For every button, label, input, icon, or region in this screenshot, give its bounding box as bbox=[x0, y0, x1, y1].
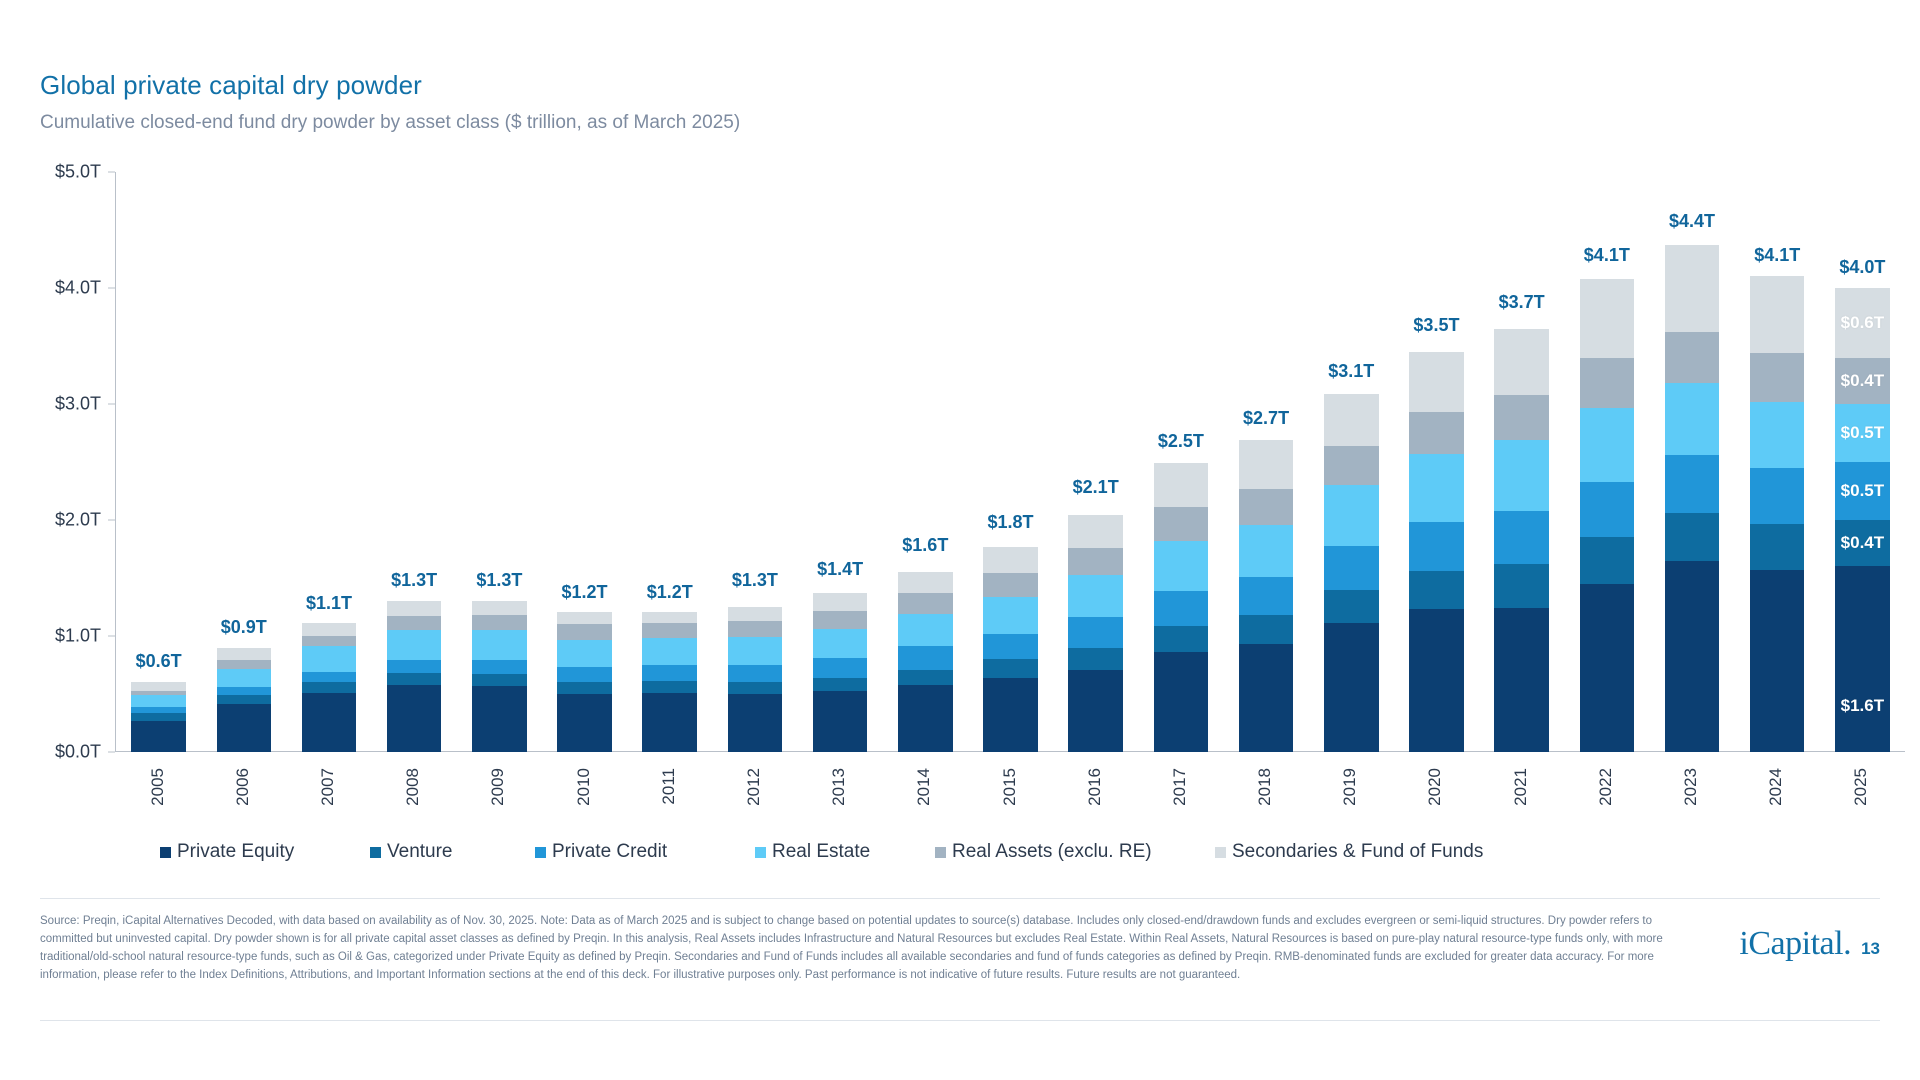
bar-stack bbox=[1068, 515, 1123, 752]
bar-stack bbox=[217, 648, 272, 752]
bar-total-label: $1.8T bbox=[987, 512, 1033, 533]
bar-segment[interactable] bbox=[1324, 623, 1379, 752]
bar-segment[interactable] bbox=[983, 659, 1038, 678]
bar-group[interactable]: $2.7T bbox=[1239, 172, 1294, 752]
bar-total-label: $0.9T bbox=[221, 617, 267, 638]
bar-stack bbox=[302, 623, 357, 752]
bar-segment[interactable] bbox=[1665, 245, 1720, 332]
x-axis-tick-label: 2023 bbox=[1681, 768, 1701, 806]
bar-segment[interactable] bbox=[472, 615, 527, 630]
bar-segment-label: $0.4T bbox=[1841, 371, 1884, 391]
bar-group[interactable]: $1.3T bbox=[387, 172, 442, 752]
bar-segment[interactable] bbox=[1154, 463, 1209, 507]
bar-segment[interactable] bbox=[1409, 352, 1464, 412]
bar-segment[interactable] bbox=[1324, 546, 1379, 590]
bar-stack bbox=[1665, 245, 1720, 752]
bar-segment-label: $0.5T bbox=[1841, 481, 1884, 501]
bar-group[interactable]: $0.6T$0.4T$0.5T$0.5T$0.4T$1.6T$4.0T bbox=[1835, 172, 1890, 752]
x-axis-tick-label: 2005 bbox=[148, 768, 168, 806]
bar-stack bbox=[1239, 440, 1294, 752]
bar-total-label: $2.1T bbox=[1073, 477, 1119, 498]
icapital-logo: iCapital. bbox=[1739, 925, 1851, 963]
bar-segment[interactable] bbox=[813, 658, 868, 678]
bar-segment[interactable] bbox=[1665, 455, 1720, 513]
y-axis-tick-mark bbox=[108, 172, 115, 173]
bar-segment[interactable]: $1.6T bbox=[1835, 566, 1890, 752]
x-axis-tick-label: 2015 bbox=[1000, 768, 1020, 806]
bar-segment[interactable] bbox=[1068, 648, 1123, 670]
y-axis-tick-mark bbox=[108, 520, 115, 521]
bar-stack bbox=[898, 572, 953, 752]
bar-segment[interactable] bbox=[1239, 525, 1294, 577]
bar-segment[interactable] bbox=[217, 669, 272, 688]
y-axis-tick-mark bbox=[108, 404, 115, 405]
bar-segment[interactable] bbox=[898, 670, 953, 685]
bar-segment[interactable] bbox=[1665, 513, 1720, 561]
bar-segment[interactable] bbox=[1494, 329, 1549, 395]
bar-total-label: $1.3T bbox=[476, 570, 522, 591]
legend-label: Real Estate bbox=[772, 841, 870, 863]
bar-segment[interactable] bbox=[728, 682, 783, 694]
bar-stack bbox=[642, 612, 697, 752]
bar-total-label: $1.1T bbox=[306, 593, 352, 614]
bar-segment[interactable] bbox=[898, 572, 953, 593]
bar-segment[interactable] bbox=[642, 693, 697, 752]
slide: Global private capital dry powder Cumula… bbox=[0, 0, 1920, 1080]
bar-segment[interactable] bbox=[1409, 412, 1464, 454]
bar-total-label: $1.3T bbox=[391, 570, 437, 591]
bar-segment[interactable] bbox=[1068, 617, 1123, 647]
bar-segment[interactable] bbox=[1750, 570, 1805, 752]
legend-label: Real Assets (exclu. RE) bbox=[952, 841, 1152, 863]
bar-group[interactable]: $2.1T bbox=[1068, 172, 1123, 752]
bar-total-label: $1.4T bbox=[817, 559, 863, 580]
bar-segment[interactable] bbox=[557, 682, 612, 694]
bar-group[interactable]: $1.3T bbox=[728, 172, 783, 752]
bar-segment[interactable] bbox=[472, 660, 527, 674]
bar-total-label: $3.1T bbox=[1328, 361, 1374, 382]
bar-stack bbox=[728, 607, 783, 752]
bar-segment[interactable] bbox=[472, 674, 527, 686]
bar-segment[interactable] bbox=[813, 611, 868, 630]
bar-group[interactable]: $1.6T bbox=[898, 172, 953, 752]
legend-item-private-equity[interactable]: Private Equity bbox=[160, 841, 294, 863]
bar-segment-label: $0.6T bbox=[1841, 313, 1884, 333]
bar-segment[interactable] bbox=[898, 685, 953, 752]
bar-segment[interactable] bbox=[1409, 454, 1464, 522]
bar-segment[interactable] bbox=[642, 638, 697, 665]
bar-stack bbox=[472, 601, 527, 752]
bar-segment[interactable] bbox=[898, 646, 953, 669]
x-axis-tick-label: 2010 bbox=[574, 768, 594, 806]
bar-segment[interactable] bbox=[131, 682, 186, 690]
bar-total-label: $1.2T bbox=[562, 582, 608, 603]
legend-swatch-icon bbox=[755, 847, 766, 858]
legend-label: Venture bbox=[387, 841, 453, 863]
bar-stack bbox=[1750, 276, 1805, 752]
bar-segment[interactable] bbox=[131, 695, 186, 707]
bar-segment[interactable] bbox=[728, 694, 783, 752]
bar-segment[interactable] bbox=[217, 687, 272, 695]
footer-divider bbox=[40, 898, 1880, 899]
bar-total-label: $4.1T bbox=[1584, 245, 1630, 266]
bar-group[interactable]: $2.5T bbox=[1154, 172, 1209, 752]
bar-group[interactable]: $0.6T bbox=[131, 172, 186, 752]
bar-stack bbox=[813, 593, 868, 752]
bar-segment[interactable] bbox=[983, 597, 1038, 634]
bar-stack bbox=[1154, 463, 1209, 752]
legend-item-real-estate[interactable]: Real Estate bbox=[755, 841, 870, 863]
bar-segment[interactable] bbox=[302, 682, 357, 692]
bar-segment[interactable] bbox=[642, 612, 697, 624]
bar-segment[interactable] bbox=[728, 665, 783, 682]
bar-segment[interactable] bbox=[642, 623, 697, 638]
legend-swatch-icon bbox=[160, 847, 171, 858]
x-axis-tick-label: 2022 bbox=[1596, 768, 1616, 806]
y-axis-tick-label: $0.0T bbox=[55, 742, 115, 763]
bar-segment[interactable] bbox=[813, 593, 868, 610]
bar-segment[interactable] bbox=[472, 601, 527, 615]
bar-segment[interactable] bbox=[1580, 482, 1635, 538]
bar-segment[interactable] bbox=[642, 665, 697, 681]
x-axis-tick-label: 2013 bbox=[829, 768, 849, 806]
bar-segment[interactable] bbox=[1239, 489, 1294, 525]
bar-segment[interactable] bbox=[813, 629, 868, 658]
bar-segment[interactable] bbox=[387, 660, 442, 673]
bar-group[interactable]: $4.4T bbox=[1665, 172, 1720, 752]
bar-segment[interactable] bbox=[898, 614, 953, 646]
bar-segment[interactable] bbox=[1239, 440, 1294, 489]
bar-segment[interactable] bbox=[898, 593, 953, 614]
bottom-divider bbox=[40, 1020, 1880, 1021]
bar-segment[interactable] bbox=[387, 685, 442, 752]
page-number: 13 bbox=[1861, 939, 1880, 959]
page-title: Global private capital dry powder bbox=[40, 70, 422, 101]
bar-stack bbox=[1324, 394, 1379, 752]
bar-segment[interactable] bbox=[983, 547, 1038, 574]
bar-segment[interactable] bbox=[813, 691, 868, 752]
bar-total-label: $1.3T bbox=[732, 570, 778, 591]
bar-segment[interactable] bbox=[217, 695, 272, 704]
x-axis-tick-label: 2016 bbox=[1085, 768, 1105, 806]
bar-segment[interactable] bbox=[131, 713, 186, 721]
bar-segment[interactable] bbox=[1324, 446, 1379, 485]
bar-stack: $0.6T$0.4T$0.5T$0.5T$0.4T$1.6T bbox=[1835, 288, 1890, 752]
bar-stack bbox=[983, 547, 1038, 752]
bar-segment[interactable] bbox=[1068, 575, 1123, 618]
bar-segment[interactable] bbox=[1324, 590, 1379, 624]
bar-stack bbox=[1580, 279, 1635, 752]
legend-item-private-credit[interactable]: Private Credit bbox=[535, 841, 667, 863]
bar-segment[interactable] bbox=[1750, 276, 1805, 353]
brand-block: iCapital. 13 bbox=[1739, 925, 1880, 963]
bar-segment[interactable] bbox=[1494, 395, 1549, 440]
bar-group[interactable]: $3.1T bbox=[1324, 172, 1379, 752]
x-axis-tick-label: 2019 bbox=[1340, 768, 1360, 806]
legend-item-secondaries-fund-of-funds[interactable]: Secondaries & Fund of Funds bbox=[1215, 841, 1483, 863]
bar-segment[interactable] bbox=[302, 623, 357, 636]
bar-segment[interactable] bbox=[1580, 584, 1635, 752]
bar-segment[interactable] bbox=[302, 672, 357, 682]
bar-total-label: $1.2T bbox=[647, 582, 693, 603]
bar-segment[interactable] bbox=[1580, 408, 1635, 482]
bar-group[interactable]: $3.7T bbox=[1494, 172, 1549, 752]
bar-segment[interactable] bbox=[217, 660, 272, 668]
bar-segment[interactable] bbox=[557, 624, 612, 639]
bar-total-label: $4.1T bbox=[1754, 245, 1800, 266]
bar-segment[interactable] bbox=[1494, 564, 1549, 608]
x-axis-tick-label: 2024 bbox=[1766, 768, 1786, 806]
bar-segment[interactable] bbox=[302, 636, 357, 646]
bar-total-label: $3.5T bbox=[1413, 315, 1459, 336]
bar-segment[interactable] bbox=[302, 646, 357, 672]
bar-segment[interactable] bbox=[217, 648, 272, 661]
bar-segment[interactable]: $0.5T bbox=[1835, 404, 1890, 462]
footnote-text: Source: Preqin, iCapital Alternatives De… bbox=[40, 912, 1670, 985]
bar-segment[interactable] bbox=[728, 637, 783, 665]
bar-segment[interactable] bbox=[983, 634, 1038, 660]
bar-segment[interactable] bbox=[1494, 608, 1549, 752]
bar-stack bbox=[557, 612, 612, 752]
bar-segment-label: $0.5T bbox=[1841, 423, 1884, 443]
bar-group[interactable]: $1.8T bbox=[983, 172, 1038, 752]
bar-segment[interactable] bbox=[387, 673, 442, 685]
x-axis-tick-label: 2011 bbox=[659, 768, 679, 805]
chart-plot-area: $5.0T$4.0T$3.0T$2.0T$1.0T$0.0T $0.6T$0.9… bbox=[115, 172, 1905, 752]
bar-segment[interactable] bbox=[557, 640, 612, 668]
chart-legend: Private EquityVenturePrivate CreditReal … bbox=[160, 838, 1860, 866]
bar-segment[interactable] bbox=[1665, 332, 1720, 383]
x-axis-tick-label: 2014 bbox=[914, 768, 934, 806]
bar-segment[interactable] bbox=[1494, 511, 1549, 564]
x-axis-tick-label: 2008 bbox=[403, 768, 423, 806]
bar-total-label: $0.6T bbox=[136, 651, 182, 672]
x-axis-tick-label: 2007 bbox=[318, 768, 338, 806]
bar-segment[interactable] bbox=[217, 704, 272, 752]
y-axis-tick-label: $4.0T bbox=[55, 278, 115, 299]
bar-segment[interactable] bbox=[1154, 507, 1209, 541]
bar-segment[interactable] bbox=[302, 693, 357, 752]
bar-segment[interactable] bbox=[472, 686, 527, 752]
bar-segment[interactable] bbox=[1239, 577, 1294, 615]
legend-swatch-icon bbox=[935, 847, 946, 858]
bar-group[interactable]: $1.4T bbox=[813, 172, 868, 752]
bar-segment[interactable]: $0.4T bbox=[1835, 520, 1890, 566]
bar-series-container: $0.6T$0.9T$1.1T$1.3T$1.3T$1.2T$1.2T$1.3T… bbox=[116, 172, 1905, 752]
x-axis-tick-label: 2017 bbox=[1170, 768, 1190, 806]
bar-segment[interactable] bbox=[983, 678, 1038, 752]
bar-segment[interactable] bbox=[1239, 644, 1294, 752]
y-axis-tick-label: $1.0T bbox=[55, 626, 115, 647]
legend-label: Private Equity bbox=[177, 841, 294, 863]
bar-segment[interactable]: $0.5T bbox=[1835, 462, 1890, 520]
bar-group[interactable]: $4.1T bbox=[1750, 172, 1805, 752]
bar-stack bbox=[387, 601, 442, 752]
bar-segment[interactable] bbox=[387, 630, 442, 660]
legend-swatch-icon bbox=[1215, 847, 1226, 858]
bar-segment[interactable] bbox=[1580, 279, 1635, 358]
bar-segment[interactable] bbox=[557, 612, 612, 625]
bar-segment[interactable] bbox=[1324, 394, 1379, 446]
bar-total-label: $2.7T bbox=[1243, 408, 1289, 429]
bar-group[interactable]: $1.2T bbox=[642, 172, 697, 752]
bar-segment[interactable] bbox=[1154, 626, 1209, 653]
bar-segment[interactable]: $0.4T bbox=[1835, 358, 1890, 404]
legend-label: Private Credit bbox=[552, 841, 667, 863]
legend-item-venture[interactable]: Venture bbox=[370, 841, 453, 863]
bar-segment[interactable]: $0.6T bbox=[1835, 288, 1890, 358]
bar-segment[interactable] bbox=[642, 681, 697, 693]
bar-segment[interactable] bbox=[1068, 670, 1123, 752]
bar-segment-label: $0.4T bbox=[1841, 533, 1884, 553]
bar-group[interactable]: $1.3T bbox=[472, 172, 527, 752]
y-axis-tick-label: $3.0T bbox=[55, 394, 115, 415]
bar-segment[interactable] bbox=[1154, 591, 1209, 626]
bar-segment[interactable] bbox=[1154, 541, 1209, 591]
y-axis-tick-label: $5.0T bbox=[55, 162, 115, 183]
bar-segment[interactable] bbox=[1409, 522, 1464, 571]
bar-segment[interactable] bbox=[1324, 485, 1379, 545]
bar-segment[interactable] bbox=[1750, 468, 1805, 524]
bar-segment[interactable] bbox=[1750, 353, 1805, 402]
x-axis-tick-label: 2020 bbox=[1425, 768, 1445, 806]
x-axis-tick-label: 2006 bbox=[233, 768, 253, 806]
bar-segment[interactable] bbox=[1580, 358, 1635, 408]
bar-segment[interactable] bbox=[472, 630, 527, 660]
legend-swatch-icon bbox=[535, 847, 546, 858]
x-axis-tick-label: 2025 bbox=[1851, 768, 1871, 806]
bar-group[interactable]: $1.1T bbox=[302, 172, 357, 752]
y-axis-tick-mark bbox=[108, 636, 115, 637]
bar-segment[interactable] bbox=[557, 667, 612, 682]
bar-stack bbox=[131, 682, 186, 752]
bar-stack bbox=[1409, 352, 1464, 752]
bar-segment[interactable] bbox=[728, 621, 783, 637]
bar-segment[interactable] bbox=[728, 607, 783, 621]
bar-segment[interactable] bbox=[1409, 609, 1464, 752]
bar-segment[interactable] bbox=[1750, 402, 1805, 468]
bar-total-label: $4.4T bbox=[1669, 211, 1715, 232]
legend-item-real-assets-exclu-re[interactable]: Real Assets (exclu. RE) bbox=[935, 841, 1152, 863]
bar-segment[interactable] bbox=[131, 721, 186, 752]
bar-segment[interactable] bbox=[557, 694, 612, 752]
y-axis-tick-mark bbox=[108, 752, 115, 753]
bar-segment[interactable] bbox=[1154, 652, 1209, 752]
bar-total-label: $2.5T bbox=[1158, 431, 1204, 452]
legend-swatch-icon bbox=[370, 847, 381, 858]
bar-total-label: $3.7T bbox=[1499, 292, 1545, 313]
bar-segment[interactable] bbox=[387, 601, 442, 616]
bar-group[interactable]: $3.5T bbox=[1409, 172, 1464, 752]
bar-segment[interactable] bbox=[1665, 383, 1720, 455]
x-axis-tick-label: 2021 bbox=[1511, 768, 1531, 806]
bar-segment[interactable] bbox=[1068, 548, 1123, 575]
bar-stack bbox=[1494, 329, 1549, 752]
bar-segment[interactable] bbox=[387, 616, 442, 630]
x-axis-tick-label: 2018 bbox=[1255, 768, 1275, 806]
x-axis-tick-label: 2012 bbox=[744, 768, 764, 806]
bar-total-label: $4.0T bbox=[1839, 257, 1885, 278]
x-axis-tick-label: 2009 bbox=[488, 768, 508, 806]
bar-segment[interactable] bbox=[1665, 561, 1720, 752]
bar-segment[interactable] bbox=[1239, 615, 1294, 644]
legend-label: Secondaries & Fund of Funds bbox=[1232, 841, 1483, 863]
bar-segment-label: $1.6T bbox=[1841, 696, 1884, 716]
bar-segment[interactable] bbox=[983, 573, 1038, 596]
bar-segment[interactable] bbox=[1494, 440, 1549, 511]
bar-segment[interactable] bbox=[1750, 524, 1805, 570]
bar-segment[interactable] bbox=[1580, 537, 1635, 583]
bar-segment[interactable] bbox=[1068, 515, 1123, 547]
page-subtitle: Cumulative closed-end fund dry powder by… bbox=[40, 112, 740, 134]
y-axis-tick-mark bbox=[108, 288, 115, 289]
y-axis-tick-label: $2.0T bbox=[55, 510, 115, 531]
bar-group[interactable]: $0.9T bbox=[217, 172, 272, 752]
bar-group[interactable]: $1.2T bbox=[557, 172, 612, 752]
bar-segment[interactable] bbox=[1409, 571, 1464, 609]
bar-segment[interactable] bbox=[813, 678, 868, 691]
bar-total-label: $1.6T bbox=[902, 535, 948, 556]
bar-group[interactable]: $4.1T bbox=[1580, 172, 1635, 752]
